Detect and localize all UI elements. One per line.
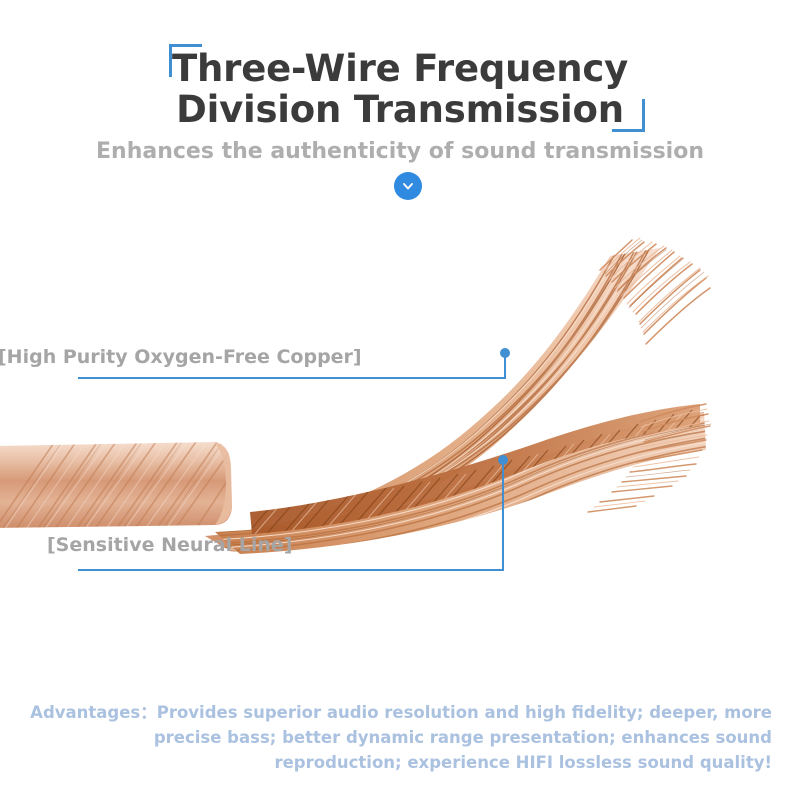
title-line-1: Three-Wire Frequency	[0, 48, 800, 89]
leader-line-high-purity-copper	[78, 348, 518, 394]
page-title: Three-Wire Frequency Division Transmissi…	[0, 48, 800, 130]
leader-dot	[498, 455, 508, 465]
leader-dot	[500, 348, 510, 358]
chevron-down-icon	[394, 172, 422, 200]
advantages-text: Advantages：Provides superior audio resol…	[28, 700, 772, 775]
leader-line-sensitive-neural-line	[78, 454, 518, 582]
title-line-2: Division Transmission	[0, 89, 800, 130]
page-subtitle: Enhances the authenticity of sound trans…	[0, 138, 800, 166]
product-feature-image: Three-Wire Frequency Division Transmissi…	[0, 0, 800, 800]
